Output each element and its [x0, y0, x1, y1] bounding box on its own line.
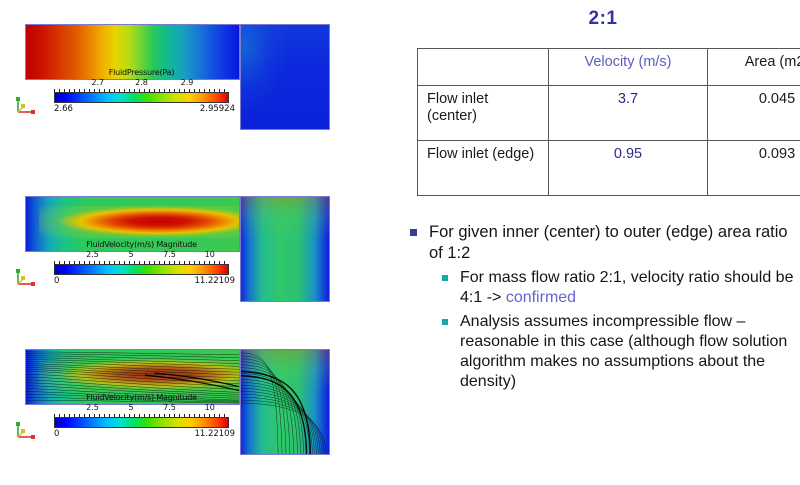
- cell-area-center: 0.045: [708, 86, 800, 141]
- cell-area-edge: 0.093: [708, 141, 800, 196]
- legend-fluid-velocity-streamlines: FluidVelocity(m/s) Magnitude 2.5 5 7.5 1…: [54, 393, 229, 440]
- legend-colorbar: [54, 264, 229, 275]
- legend-min-label: 0: [54, 276, 59, 286]
- duct-vertical-section: [240, 24, 330, 130]
- legend-min-label: 2.66: [54, 104, 73, 114]
- legend-title: FluidVelocity(m/s) Magnitude: [54, 393, 229, 402]
- bullet-text-highlight: confirmed: [506, 289, 576, 306]
- bullet-square-icon: [442, 319, 448, 325]
- row-label-flow-inlet-edge: Flow inlet (edge): [418, 141, 549, 196]
- legend-tick-label: 2.8: [135, 78, 148, 87]
- duct-vertical-section: [240, 196, 330, 302]
- list-item: For given inner (center) to outer (edge)…: [410, 222, 800, 264]
- row-label-flow-inlet-center: Flow inlet (center): [418, 86, 549, 141]
- legend-tick-label: 5: [128, 403, 133, 412]
- legend-tick-labels: 2.7 2.8 2.9: [54, 78, 229, 88]
- bullet-square-icon: [410, 229, 417, 236]
- legend-title: FluidPressure(Pa): [54, 68, 229, 77]
- table-header-velocity: Velocity (m/s): [549, 49, 708, 86]
- legend-colorbar: [54, 92, 229, 103]
- duct-vertical-section: [240, 349, 330, 455]
- legend-tick-label: 2.7: [91, 78, 104, 87]
- table-header-row: Velocity (m/s) Area (m2): [418, 49, 800, 86]
- legend-tick-labels: 2.5 5 7.5 10: [54, 403, 229, 413]
- bullet-text: For mass flow ratio 2:1, velocity ratio …: [460, 268, 800, 308]
- legend-tick-marks: [54, 260, 229, 264]
- legend-max-label: 11.22109: [194, 276, 235, 286]
- legend-colorbar: [54, 417, 229, 428]
- legend-tick-labels: 2.5 5 7.5 10: [54, 250, 229, 260]
- legend-max-label: 11.22109: [194, 429, 235, 439]
- legend-tick-label: 10: [205, 403, 215, 412]
- axis-triad-icon: [14, 421, 36, 441]
- legend-fluid-velocity: FluidVelocity(m/s) Magnitude 2.5 5 7.5 1…: [54, 240, 229, 287]
- legend-tick-marks: [54, 88, 229, 92]
- axis-triad-icon: [14, 96, 36, 116]
- bullet-square-icon: [442, 275, 448, 281]
- table-row: Flow inlet (edge) 0.95 0.093: [418, 141, 800, 196]
- bullet-text: For given inner (center) to outer (edge)…: [429, 222, 800, 264]
- legend-tick-label: 2.9: [181, 78, 194, 87]
- table-header-area: Area (m2): [708, 49, 800, 86]
- results-table: Velocity (m/s) Area (m2) Flow inlet (cen…: [417, 48, 800, 196]
- legend-title: FluidVelocity(m/s) Magnitude: [54, 240, 229, 249]
- legend-tick-label: 2.5: [86, 250, 99, 259]
- streamline-overlay-vertical: [241, 350, 329, 454]
- pressure-field-vertical: [241, 25, 329, 129]
- legend-min-label: 0: [54, 429, 59, 439]
- bullet-list: For given inner (center) to outer (edge)…: [410, 222, 800, 397]
- bullet-text: Analysis assumes incompressible flow –re…: [460, 312, 800, 393]
- axis-triad-icon: [14, 268, 36, 288]
- legend-fluid-pressure: FluidPressure(Pa) 2.7 2.8 2.9 2.66 2.959…: [54, 68, 229, 115]
- legend-tick-marks: [54, 413, 229, 417]
- page-title: 2:1: [418, 8, 788, 30]
- legend-tick-label: 7.5: [163, 250, 176, 259]
- legend-range-labels: 0 11.22109: [54, 429, 229, 440]
- legend-tick-label: 10: [205, 250, 215, 259]
- cell-velocity-edge: 0.95: [549, 141, 708, 196]
- legend-range-labels: 2.66 2.95924: [54, 104, 229, 115]
- velocity-elbow-blend: [241, 197, 329, 239]
- table-row: Flow inlet (center) 3.7 0.045: [418, 86, 800, 141]
- velocity-jet-core: [39, 206, 239, 238]
- legend-max-label: 2.95924: [200, 104, 235, 114]
- legend-tick-label: 2.5: [86, 403, 99, 412]
- list-item: For mass flow ratio 2:1, velocity ratio …: [410, 268, 800, 308]
- table-header-blank: [418, 49, 549, 86]
- legend-tick-label: 5: [128, 250, 133, 259]
- list-item: Analysis assumes incompressible flow –re…: [410, 312, 800, 393]
- legend-tick-label: 7.5: [163, 403, 176, 412]
- legend-range-labels: 0 11.22109: [54, 276, 229, 287]
- cell-velocity-center: 3.7: [549, 86, 708, 141]
